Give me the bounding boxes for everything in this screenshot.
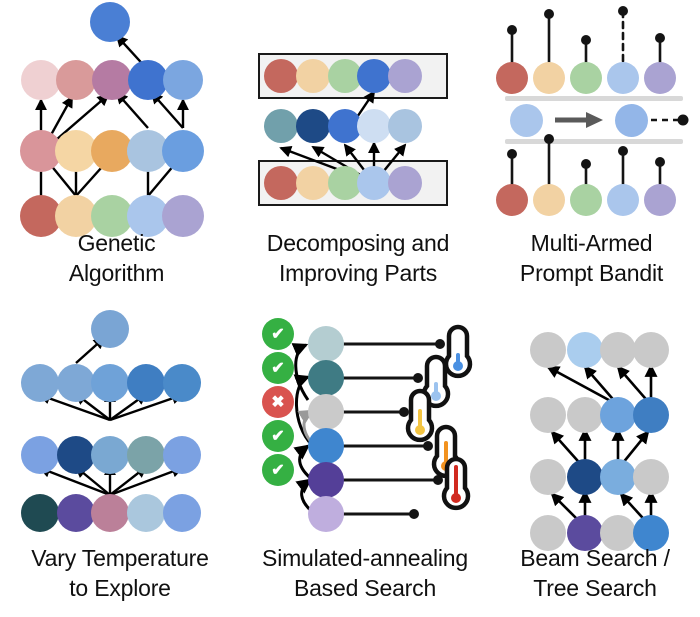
panel-genetic-algorithm: Genetic Algorithm [0,0,233,300]
caption-line-2: Based Search [240,573,490,603]
node-generation-1-4 [162,130,204,172]
caption-line-1: Vary Temperature [0,543,240,573]
node-candidate-4 [308,428,344,464]
node-candidate-2 [308,360,344,396]
node-best-node-0 [91,310,129,348]
node-level-3-2 [600,397,636,433]
node-original-prompt-strip-4 [388,166,422,200]
panel-beam-search: Beam Search / Tree Search [490,305,700,617]
accept-icon: ✔ [262,454,294,486]
node-improved-prompt-strip-1 [296,59,330,93]
node-depth-3-0 [21,364,59,402]
node-depth-2-3 [127,436,165,474]
node-generation-2-2 [92,60,132,100]
node-depth-3-4 [163,364,201,402]
node-level-3-1 [567,397,603,433]
node-depth-2-2 [91,436,129,474]
node-depth-3-2 [91,364,129,402]
node-generation-2-0 [21,60,61,100]
node-depth-1-4 [163,494,201,532]
caption-line-1: Multi-Armed [483,228,700,258]
caption-line-2: Tree Search [490,573,700,603]
node-level-3-0 [530,397,566,433]
caption-line-2: to Explore [0,573,240,603]
node-original-prompt-strip-3 [357,166,391,200]
caption-line-1: Simulated-annealing [240,543,490,573]
caption-decomposing: Decomposing and Improving Parts [233,228,483,288]
accept-icon: ✔ [262,420,294,452]
node-depth-2-1 [57,436,95,474]
caption-line-1: Genetic [0,228,233,258]
node-improved-prompt-strip-4 [388,59,422,93]
node-arms-top-0 [496,62,528,94]
node-improved-prompt-strip-3 [357,59,391,93]
caption-multi-armed-bandit: Multi-Armed Prompt Bandit [483,228,700,288]
node-original-prompt-strip-0 [264,166,298,200]
panel-vary-temperature: Vary Temperature to Explore [0,305,240,617]
figure-root: Genetic Algorithm Decomposing and Improv [0,0,700,617]
accept-icon: ✔ [262,352,294,384]
accept-icon: ✔ [262,318,294,350]
node-depth-2-0 [21,436,59,474]
node-arms-top-2 [570,62,602,94]
selection-right-arrow [555,112,603,128]
node-arms-bottom-0 [496,184,528,216]
node-depth-3-1 [57,364,95,402]
caption-line-2: Improving Parts [233,258,483,288]
node-level-4-2 [600,332,636,368]
node-original-prompt-strip-1 [296,166,330,200]
node-level-4-0 [530,332,566,368]
node-level-2-2 [600,459,636,495]
node-arms-bottom-3 [607,184,639,216]
panel-simulated-annealing: ✔✔✖✔✔ Simulated-annealing Based Search [240,305,490,617]
node-generation-2-1 [56,60,96,100]
node-depth-1-1 [57,494,95,532]
node-candidate-1 [308,326,344,362]
node-level-2-3 [633,459,669,495]
panel-decomposing-improving-parts: Decomposing and Improving Parts [233,0,483,300]
reject-icon: ✖ [262,386,294,418]
caption-line-1: Decomposing and [233,228,483,258]
node-depth-1-3 [127,494,165,532]
node-level-4-1 [567,332,603,368]
node-depth-2-4 [163,436,201,474]
node-level-2-0 [530,459,566,495]
caption-genetic-algorithm: Genetic Algorithm [0,228,233,288]
node-candidate-parts-3 [357,109,391,143]
caption-beam-search: Beam Search / Tree Search [490,543,700,603]
node-candidate-parts-4 [388,109,422,143]
node-depth-1-0 [21,494,59,532]
node-arms-bottom-1 [533,184,565,216]
node-improved-prompt-strip-0 [264,59,298,93]
caption-line-2: Prompt Bandit [483,258,700,288]
node-candidate-parts-1 [296,109,330,143]
node-candidate-parts-0 [264,109,298,143]
node-arms-top-3 [607,62,639,94]
caption-vary-temperature: Vary Temperature to Explore [0,543,240,603]
node-query-prompt [510,104,543,137]
node-chosen-arm [615,104,648,137]
node-level-2-1 [567,459,603,495]
node-generation-3-0 [90,2,130,42]
node-arms-top-4 [644,62,676,94]
node-depth-3-3 [127,364,165,402]
node-level-3-3 [633,397,669,433]
node-generation-2-3 [128,60,168,100]
caption-simulated-annealing: Simulated-annealing Based Search [240,543,490,603]
node-generation-2-4 [163,60,203,100]
node-candidate-6 [308,496,344,532]
caption-line-1: Beam Search / [490,543,700,573]
caption-line-2: Algorithm [0,258,233,288]
node-arms-top-1 [533,62,565,94]
node-arms-bottom-4 [644,184,676,216]
node-candidate-3 [308,394,344,430]
node-depth-1-2 [91,494,129,532]
panel-multi-armed-prompt-bandit: ? Multi-Armed Prompt Bandit [483,0,700,300]
node-arms-bottom-2 [570,184,602,216]
node-candidate-5 [308,462,344,498]
node-level-4-3 [633,332,669,368]
